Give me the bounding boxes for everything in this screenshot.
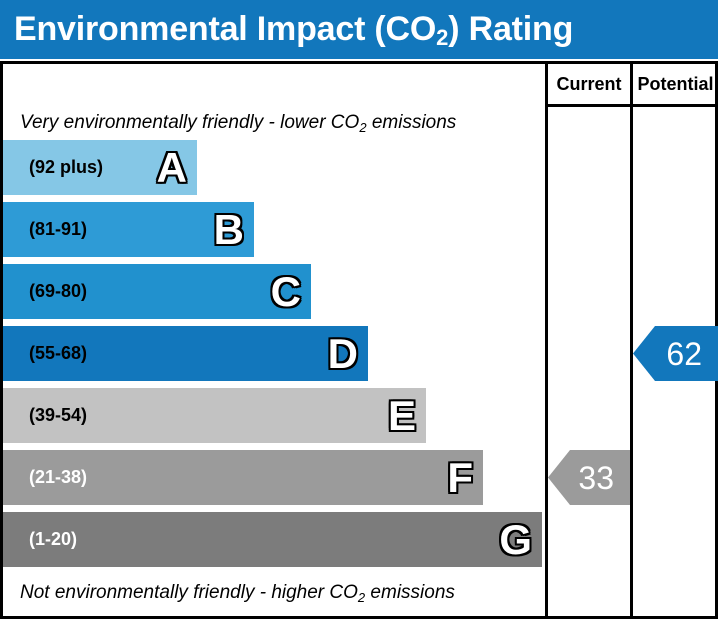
band-bar-a: (92 plus)A — [3, 140, 197, 195]
band-bar-d: (55-68)D — [3, 326, 368, 381]
band-bar-f: (21-38)F — [3, 450, 483, 505]
band-bar-e: (39-54)E — [3, 388, 426, 443]
title-subscript: 2 — [436, 25, 448, 50]
rating-table: Current Potential Very environmentally f… — [0, 61, 718, 619]
band-letter-b: B — [214, 209, 244, 251]
caption-top-subscript: 2 — [359, 120, 366, 135]
band-letter-e: E — [388, 395, 416, 437]
band-range-f: (21-38) — [29, 467, 87, 488]
column-divider-potential — [630, 64, 633, 616]
caption-bottom: Not environmentally friendly - higher CO… — [20, 582, 455, 604]
page-title: Environmental Impact (CO2) Rating — [14, 8, 573, 54]
column-header-potential: Potential — [633, 64, 718, 104]
band-range-c: (69-80) — [29, 281, 87, 302]
caption-top: Very environmentally friendly - lower CO… — [20, 112, 456, 134]
header-rule — [545, 104, 718, 107]
chart-title-bar: Environmental Impact (CO2) Rating — [0, 0, 718, 59]
band-letter-g: G — [499, 519, 532, 561]
band-letter-c: C — [271, 271, 301, 313]
rating-arrow-potential: 62 — [633, 326, 718, 381]
environmental-impact-rating-chart: Environmental Impact (CO2) Rating Curren… — [0, 0, 718, 619]
band-bar-b: (81-91)B — [3, 202, 254, 257]
column-header-current: Current — [548, 64, 630, 104]
band-bar-c: (69-80)C — [3, 264, 311, 319]
rating-arrow-current: 33 — [548, 450, 630, 505]
band-letter-d: D — [328, 333, 358, 375]
band-range-b: (81-91) — [29, 219, 87, 240]
band-range-g: (1-20) — [29, 529, 77, 550]
band-range-d: (55-68) — [29, 343, 87, 364]
band-range-a: (92 plus) — [29, 157, 103, 178]
band-range-e: (39-54) — [29, 405, 87, 426]
band-letter-a: A — [157, 147, 187, 189]
rating-value-current: 33 — [578, 462, 614, 494]
band-bar-g: (1-20)G — [3, 512, 542, 567]
band-letter-f: F — [447, 457, 473, 499]
rating-value-potential: 62 — [666, 338, 702, 370]
column-divider-current — [545, 64, 548, 616]
caption-bottom-subscript: 2 — [358, 590, 365, 605]
